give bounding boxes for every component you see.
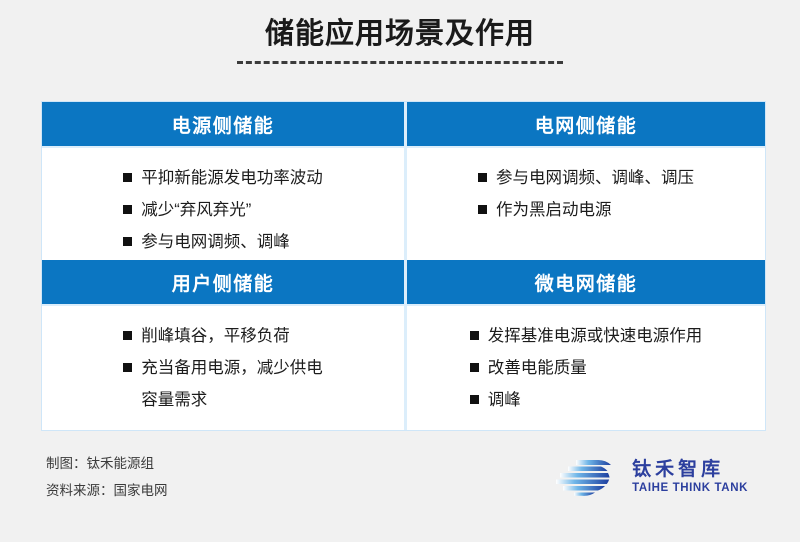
source-line: 资料来源：国家电网: [46, 477, 168, 504]
list-item-label: 减少“弃风弃光”: [141, 201, 251, 219]
logo-name-en: TAIHE THINK TANK: [632, 482, 748, 494]
table-row: 电源侧储能 电网侧储能 平抑新能源发电功率波动 减少“弃风弃光” 参与电网调频、…: [42, 102, 765, 260]
bullet-square-icon: [123, 363, 132, 372]
cell-body-microgrid: 发挥基准电源或快速电源作用 改善电能质量 调峰: [407, 306, 765, 430]
cell-header-grid-side: 电网侧储能: [407, 102, 765, 146]
bullet-square-icon: [470, 363, 479, 372]
bullet-list: 削峰填谷，平移负荷 充当备用电源，减少供电 容量需求: [123, 320, 323, 417]
list-item-label: 调峰: [488, 391, 521, 409]
list-item: 削峰填谷，平移负荷: [123, 320, 323, 352]
cell-body-grid-side: 参与电网调频、调峰、调压 作为黑启动电源: [407, 148, 765, 260]
list-item: 参与电网调频、调峰: [123, 226, 323, 258]
bullet-square-icon: [123, 331, 132, 340]
table-body-row: 削峰填谷，平移负荷 充当备用电源，减少供电 容量需求 发挥基准电源或快速电源作用: [42, 306, 765, 430]
cell-header-power-side: 电源侧储能: [42, 102, 404, 146]
list-item-label: 参与电网调频、调峰、调压: [496, 169, 694, 187]
bullet-square-icon: [478, 173, 487, 182]
bullet-square-icon: [470, 331, 479, 340]
title-block: 储能应用场景及作用: [0, 0, 800, 64]
cell-header-label: 用户侧储能: [172, 269, 275, 296]
list-item: 调峰: [470, 384, 703, 416]
footer: 制图：钛禾能源组 资料来源：国家电网 钛禾智库 TAIHE: [46, 450, 754, 504]
bullet-square-icon: [123, 205, 132, 214]
bullet-list: 发挥基准电源或快速电源作用 改善电能质量 调峰: [470, 320, 703, 417]
list-item: 发挥基准电源或快速电源作用: [470, 320, 703, 352]
bullet-list: 参与电网调频、调峰、调压 作为黑启动电源: [478, 162, 694, 226]
list-item-label: 作为黑启动电源: [496, 201, 612, 219]
cell-header-label: 微电网储能: [535, 269, 638, 296]
list-item: 改善电能质量: [470, 352, 703, 384]
table-body-row: 平抑新能源发电功率波动 减少“弃风弃光” 参与电网调频、调峰 参与电网调频、调峰…: [42, 148, 765, 260]
table-header-row: 电源侧储能 电网侧储能: [42, 102, 765, 146]
list-item: 作为黑启动电源: [478, 194, 694, 226]
list-item-label: 发挥基准电源或快速电源作用: [488, 327, 703, 345]
logo-text: 钛禾智库 TAIHE THINK TANK: [632, 460, 748, 495]
table-header-row: 用户侧储能 微电网储能: [42, 260, 765, 304]
cell-header-microgrid: 微电网储能: [407, 260, 765, 304]
credit-line: 制图：钛禾能源组: [46, 450, 168, 477]
list-item-label: 充当备用电源，减少供电: [141, 359, 323, 377]
bullet-square-icon: [470, 395, 479, 404]
list-item-label: 参与电网调频、调峰: [141, 233, 290, 251]
list-item: 参与电网调频、调峰、调压: [478, 162, 694, 194]
swoosh-logo-icon: [554, 457, 622, 497]
cell-body-user-side: 削峰填谷，平移负荷 充当备用电源，减少供电 容量需求: [42, 306, 404, 430]
cell-body-power-side: 平抑新能源发电功率波动 减少“弃风弃光” 参与电网调频、调峰: [42, 148, 404, 260]
bullet-square-icon: [123, 237, 132, 246]
list-item: 平抑新能源发电功率波动: [123, 162, 323, 194]
bullet-list: 平抑新能源发电功率波动 减少“弃风弃光” 参与电网调频、调峰: [123, 162, 323, 259]
bullet-square-icon: [123, 173, 132, 182]
cell-header-label: 电源侧储能: [172, 111, 275, 138]
brand-logo: 钛禾智库 TAIHE THINK TANK: [554, 457, 754, 497]
table-row: 用户侧储能 微电网储能 削峰填谷，平移负荷 充当备用电源，减少供电 容量需求: [42, 260, 765, 430]
list-item-label: 改善电能质量: [488, 359, 587, 377]
list-item-label: 平抑新能源发电功率波动: [141, 169, 323, 187]
title-divider: [237, 61, 563, 64]
bullet-square-icon: [478, 205, 487, 214]
logo-name-cn: 钛禾智库: [632, 460, 748, 480]
footer-notes: 制图：钛禾能源组 资料来源：国家电网: [46, 450, 168, 504]
list-item-label: 削峰填谷，平移负荷: [141, 327, 290, 345]
list-item-label: 容量需求: [141, 384, 207, 416]
list-item: 减少“弃风弃光”: [123, 194, 323, 226]
cell-header-user-side: 用户侧储能: [42, 260, 404, 304]
scenario-table: 电源侧储能 电网侧储能 平抑新能源发电功率波动 减少“弃风弃光” 参与电网调频、…: [41, 101, 766, 431]
page-title: 储能应用场景及作用: [0, 16, 800, 52]
list-item-continuation: 容量需求: [123, 384, 323, 416]
cell-header-label: 电网侧储能: [535, 111, 638, 138]
list-item: 充当备用电源，减少供电: [123, 352, 323, 384]
